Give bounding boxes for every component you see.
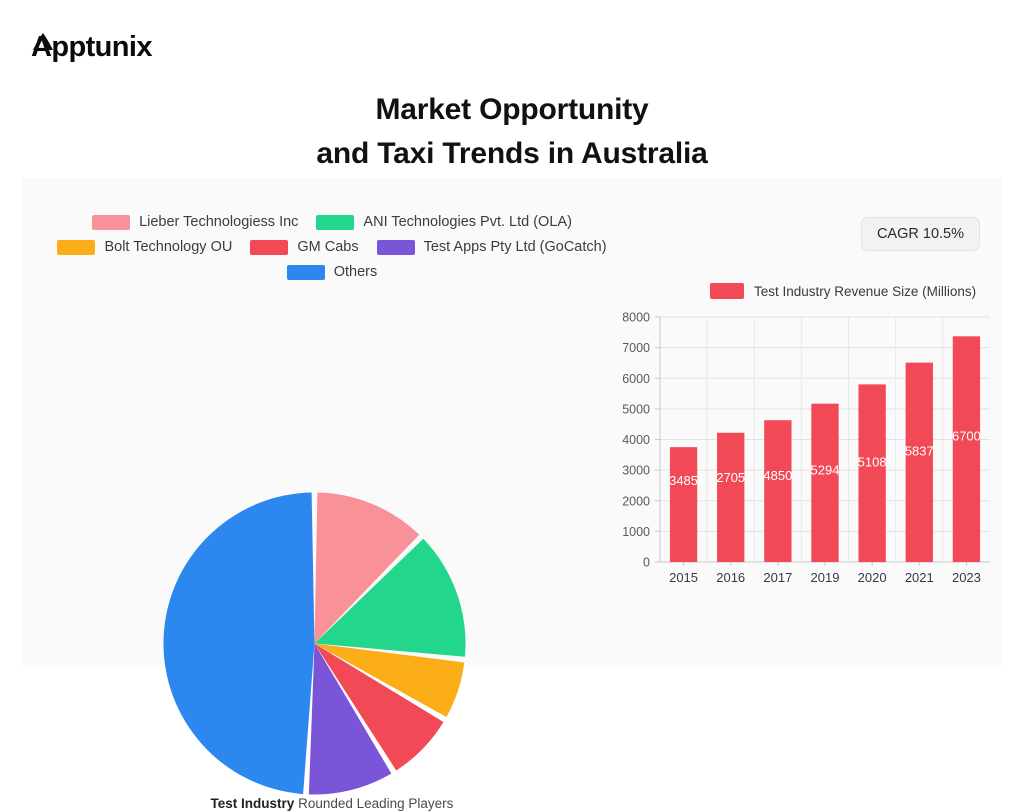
charts-panel: Lieber Technologiess IncANI Technologies… (22, 178, 1002, 667)
pie-legend-item[interactable]: Lieber Technologiess Inc (92, 214, 298, 230)
pie-legend-item[interactable]: ANI Technologies Pvt. Ltd (OLA) (316, 214, 571, 230)
pie-legend-label: Bolt Technology OU (104, 239, 232, 255)
pie-legend-label: Lieber Technologiess Inc (139, 214, 298, 230)
legend-color-swatch (377, 240, 415, 255)
page-title-line-1: Market Opportunity (0, 88, 1024, 132)
apptunix-a-mark-icon (30, 30, 56, 64)
bar[interactable] (858, 384, 885, 562)
pie-legend-item[interactable]: Others (287, 264, 378, 280)
pie-legend-row: Bolt Technology OUGM CabsTest Apps Pty L… (32, 239, 632, 255)
pie-caption-bold: Test Industry (211, 796, 295, 811)
bar-legend-label: Test Industry Revenue Size (Millions) (754, 284, 976, 299)
y-axis-tick-label: 1000 (622, 525, 650, 539)
y-axis-tick-label: 7000 (622, 341, 650, 355)
legend-color-swatch (250, 240, 288, 255)
bar-chart-plot: 8000700060005000400030002000100003485201… (610, 309, 1002, 594)
x-axis-tick-label: 2019 (811, 570, 840, 585)
page-title: Market Opportunity and Taxi Trends in Au… (0, 88, 1024, 175)
pie-legend-row: Lieber Technologiess IncANI Technologies… (32, 214, 632, 230)
bar[interactable] (953, 336, 980, 562)
bar[interactable] (670, 447, 697, 562)
y-axis-tick-label: 8000 (622, 311, 650, 325)
x-axis-tick-label: 2020 (858, 570, 887, 585)
pie-chart-caption: Test Industry Rounded Leading Players (32, 796, 632, 811)
bar[interactable] (717, 433, 744, 562)
x-axis-tick-label: 2017 (763, 570, 792, 585)
page-title-line-2: and Taxi Trends in Australia (0, 132, 1024, 176)
pie-chart (162, 491, 467, 796)
legend-color-swatch (316, 215, 354, 230)
y-axis-tick-label: 2000 (622, 494, 650, 508)
cagr-badge: CAGR 10.5% (861, 217, 980, 251)
y-axis-tick-label: 0 (643, 556, 650, 570)
bar-value-label: 5837 (905, 444, 934, 459)
pie-slice[interactable] (163, 493, 314, 795)
bar-value-label: 5294 (811, 463, 840, 478)
bar-chart: Test Industry Revenue Size (Millions) 80… (610, 283, 1002, 653)
bar-value-label: 3485 (669, 473, 698, 488)
bar-value-label: 4850 (763, 468, 792, 483)
pie-legend-label: Others (334, 264, 378, 280)
bar-value-label: 2705 (716, 470, 745, 485)
pie-legend-item[interactable]: GM Cabs (250, 239, 358, 255)
pie-legend-row: Others (32, 264, 632, 280)
bar[interactable] (764, 420, 791, 562)
pie-caption-rest: Rounded Leading Players (294, 796, 453, 811)
bar-value-label: 6700 (952, 428, 981, 443)
pie-legend-label: Test Apps Pty Ltd (GoCatch) (424, 239, 607, 255)
y-axis-tick-label: 6000 (622, 372, 650, 386)
pie-legend-label: ANI Technologies Pvt. Ltd (OLA) (363, 214, 571, 230)
legend-color-swatch (710, 283, 744, 299)
bar[interactable] (906, 363, 933, 562)
y-axis-tick-label: 3000 (622, 464, 650, 478)
x-axis-tick-label: 2015 (669, 570, 698, 585)
legend-color-swatch (92, 215, 130, 230)
bar[interactable] (811, 404, 838, 562)
legend-color-swatch (57, 240, 95, 255)
pie-legend-label: GM Cabs (297, 239, 358, 255)
pie-legend-item[interactable]: Bolt Technology OU (57, 239, 232, 255)
bar-chart-legend: Test Industry Revenue Size (Millions) (710, 283, 976, 299)
cagr-badge-label: CAGR 10.5% (877, 226, 964, 242)
pie-legend-item[interactable]: Test Apps Pty Ltd (GoCatch) (377, 239, 607, 255)
x-axis-tick-label: 2021 (905, 570, 934, 585)
y-axis-tick-label: 4000 (622, 433, 650, 447)
brand-logo: Apptunix (30, 24, 152, 64)
y-axis-tick-label: 5000 (622, 402, 650, 416)
x-axis-tick-label: 2016 (716, 570, 745, 585)
x-axis-tick-label: 2023 (952, 570, 981, 585)
legend-color-swatch (287, 265, 325, 280)
bar-value-label: 5108 (858, 454, 887, 469)
pie-legend: Lieber Technologiess IncANI Technologies… (32, 214, 632, 289)
